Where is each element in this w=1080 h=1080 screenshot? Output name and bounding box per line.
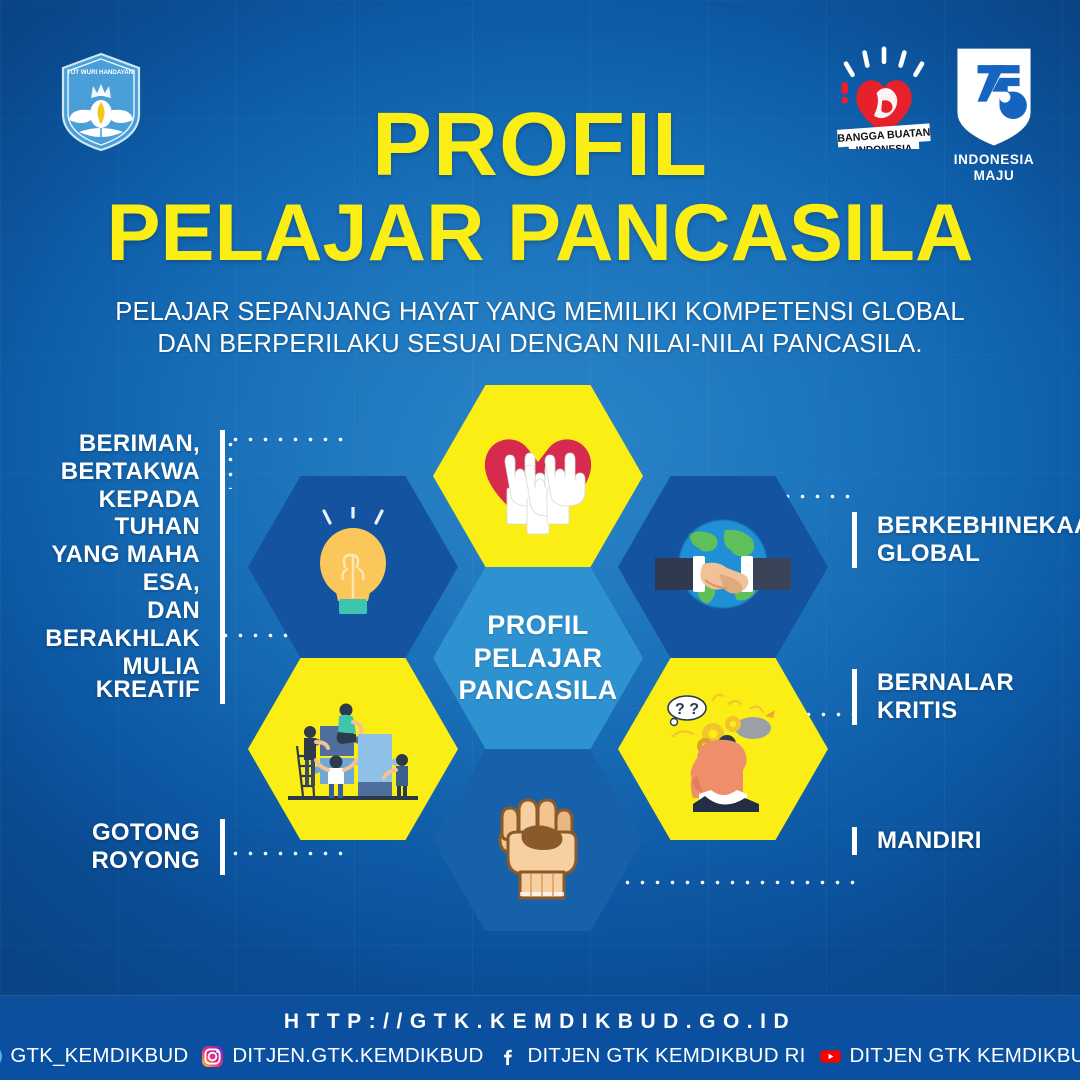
subtitle-line-2: DAN BERPERILAKU SESUAI DENGAN NILAI-NILA…: [100, 328, 980, 361]
subtitle-line-1: PELAJAR SEPANJANG HAYAT YANG MEMILIKI KO…: [100, 296, 980, 329]
hex-mandiri[interactable]: [433, 749, 643, 931]
social-youtube[interactable]: DITJEN GTK KEMDIKBUD: [819, 1044, 1080, 1068]
label-kreatif-line-1: KREATIF: [40, 676, 200, 704]
label-beriman-line-1: BERIMAN,: [40, 430, 200, 458]
hex-bernalar-kritis[interactable]: ? ?: [618, 658, 828, 840]
center-label-line-1: PROFIL: [458, 609, 617, 642]
label-gotong-royong-line-1: GOTONG: [40, 819, 200, 847]
social-row: GTK_KEMDIKBUD DITJEN.G: [0, 1044, 1080, 1068]
teamwork-puzzle-icon: [284, 688, 422, 810]
center-label: PROFIL PELAJAR PANCASILA: [458, 609, 617, 708]
subtitle: PELAJAR SEPANJANG HAYAT YANG MEMILIKI KO…: [100, 296, 980, 361]
raised-fist-icon: [484, 776, 592, 904]
globe-handshake-icon: [653, 502, 793, 632]
label-beriman: BERIMAN, BERTAKWA KEPADA TUHAN YANG MAHA…: [40, 430, 225, 680]
website-url[interactable]: HTTP://GTK.KEMDIKBUD.GO.ID: [0, 996, 1080, 1034]
label-bernalar-kritis-line-1: BERNALAR: [877, 669, 1077, 697]
label-bernalar-kritis-line-2: KRITIS: [877, 697, 1077, 725]
label-mandiri: MANDIRI: [852, 827, 1077, 855]
twitter-icon: [0, 1045, 2, 1068]
label-kreatif: KREATIF: [40, 676, 225, 704]
youtube-icon: [819, 1045, 842, 1068]
center-label-line-2: PELAJAR: [458, 642, 617, 675]
label-beriman-line-3: KEPADA TUHAN: [40, 486, 200, 542]
page-title-line-2: PELAJAR PANCASILA: [0, 193, 1080, 274]
hex-kreatif-bulb[interactable]: [248, 476, 458, 658]
footer: HTTP://GTK.KEMDIKBUD.GO.ID GTK_KEMDIKBUD: [0, 995, 1080, 1080]
social-facebook[interactable]: DITJEN GTK KEMDIKBUD RI: [497, 1044, 806, 1068]
youtube-handle: DITJEN GTK KEMDIKBUD: [850, 1044, 1080, 1068]
label-beriman-line-5: DAN: [40, 597, 200, 625]
title-block: PROFIL PELAJAR PANCASILA PELAJAR SEPANJA…: [0, 104, 1080, 361]
instagram-icon: [201, 1045, 224, 1068]
social-twitter[interactable]: GTK_KEMDIKBUD: [0, 1044, 188, 1068]
svg-text:TUT WURI HANDAYANI: TUT WURI HANDAYANI: [67, 69, 135, 76]
facebook-icon: [497, 1045, 520, 1068]
hex-berkebhinekaan-globe[interactable]: [618, 476, 828, 658]
instagram-handle: DITJEN.GTK.KEMDIKBUD: [232, 1044, 483, 1068]
facebook-handle: DITJEN GTK KEMDIKBUD RI: [528, 1044, 806, 1068]
poster-canvas: TUT WURI HANDAYANI: [0, 0, 1080, 1080]
center-label-line-3: PANCASILA: [458, 674, 617, 707]
label-beriman-line-6: BERAKHLAK: [40, 625, 200, 653]
label-gotong-royong-line-2: ROYONG: [40, 847, 200, 875]
label-berkebhinekaan-global: BERKEBHINEKAAN GLOBAL: [852, 512, 1077, 568]
label-berkebhinekaan-line-1: BERKEBHINEKAAN: [877, 512, 1077, 540]
thinking-head-gears-icon: ? ?: [653, 686, 793, 812]
label-berkebhinekaan-line-2: GLOBAL: [877, 540, 1077, 568]
label-bernalar-kritis: BERNALAR KRITIS: [852, 669, 1077, 725]
hex-center: PROFIL PELAJAR PANCASILA: [433, 567, 643, 749]
page-title-line-1: PROFIL: [0, 104, 1080, 187]
hexagon-cluster: PROFIL PELAJAR PANCASILA: [248, 385, 828, 975]
hex-gotong-royong[interactable]: [248, 658, 458, 840]
connector-beriman-vert: [228, 437, 233, 489]
label-gotong-royong: GOTONG ROYONG: [40, 819, 225, 875]
label-beriman-line-2: BERTAKWA: [40, 458, 200, 486]
social-instagram[interactable]: DITJEN.GTK.KEMDIKBUD: [201, 1044, 483, 1068]
hex-beriman[interactable]: [433, 385, 643, 567]
label-beriman-line-4: YANG MAHA ESA,: [40, 541, 200, 597]
label-mandiri-line-1: MANDIRI: [877, 827, 1077, 855]
heart-raised-hands-icon: [473, 416, 603, 536]
twitter-handle: GTK_KEMDIKBUD: [10, 1044, 188, 1068]
lightbulb-icon: [298, 507, 408, 627]
svg-text:? ?: ? ?: [675, 701, 699, 718]
